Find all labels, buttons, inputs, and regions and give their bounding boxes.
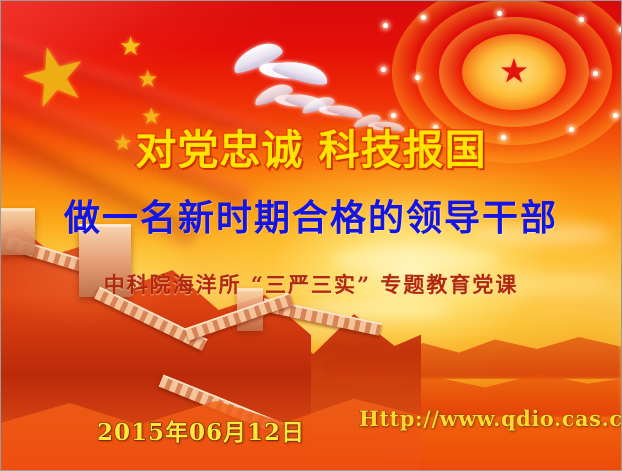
- ceiling-ring: [439, 17, 589, 127]
- dove-wing: [229, 38, 285, 76]
- ceiling-ring: [462, 34, 566, 110]
- slide-main-title: 对党忠诚 科技报国: [1, 116, 621, 176]
- dove-body: [275, 94, 308, 108]
- red-flag-backdrop: [1, 1, 373, 217]
- ceiling-light-dot: [497, 11, 502, 16]
- presentation-title-slide: ★ ★ ★ ★ ★ ★: [0, 0, 622, 471]
- cloud: [301, 301, 451, 319]
- slide-text-content: 对党忠诚 科技报国 做一名新时期合格的领导干部 中科院海洋所 “三严三实” 专题…: [1, 1, 621, 470]
- flag-star-small-icon: ★: [137, 68, 159, 92]
- cloud: [201, 321, 381, 341]
- flag-star-large-icon: ★: [11, 30, 98, 123]
- dove-wing: [272, 56, 331, 89]
- slide-date: 2015年06月12日: [97, 413, 305, 447]
- ceiling-light-dot: [381, 67, 386, 72]
- slide-sub-title: 做一名新时期合格的领导干部: [1, 189, 621, 241]
- slide-website-url[interactable]: Http://www.qdio.cas.cn: [359, 406, 622, 431]
- flag-star-small-icon: ★: [119, 33, 142, 59]
- dove-wing: [284, 90, 328, 113]
- dove-icon: [229, 41, 329, 99]
- ceiling-light-dot: [415, 75, 420, 80]
- wall-crenellation: [262, 298, 382, 336]
- slide-course-line: 中科院海洋所 “三严三实” 专题教育党课: [1, 269, 621, 299]
- ceiling-light-dot: [579, 17, 584, 22]
- wall-crenellation: [185, 293, 293, 341]
- dove-wing: [252, 81, 294, 108]
- dove-wing: [300, 94, 336, 115]
- dove-body: [258, 61, 301, 80]
- distant-hills: [321, 319, 621, 379]
- dove-body: [319, 105, 347, 116]
- ceiling-light-dot: [421, 15, 426, 20]
- ceiling-light-dot: [593, 71, 598, 76]
- ceiling-light-dot: [383, 23, 388, 28]
- ceiling-red-star-icon: ★: [499, 54, 529, 88]
